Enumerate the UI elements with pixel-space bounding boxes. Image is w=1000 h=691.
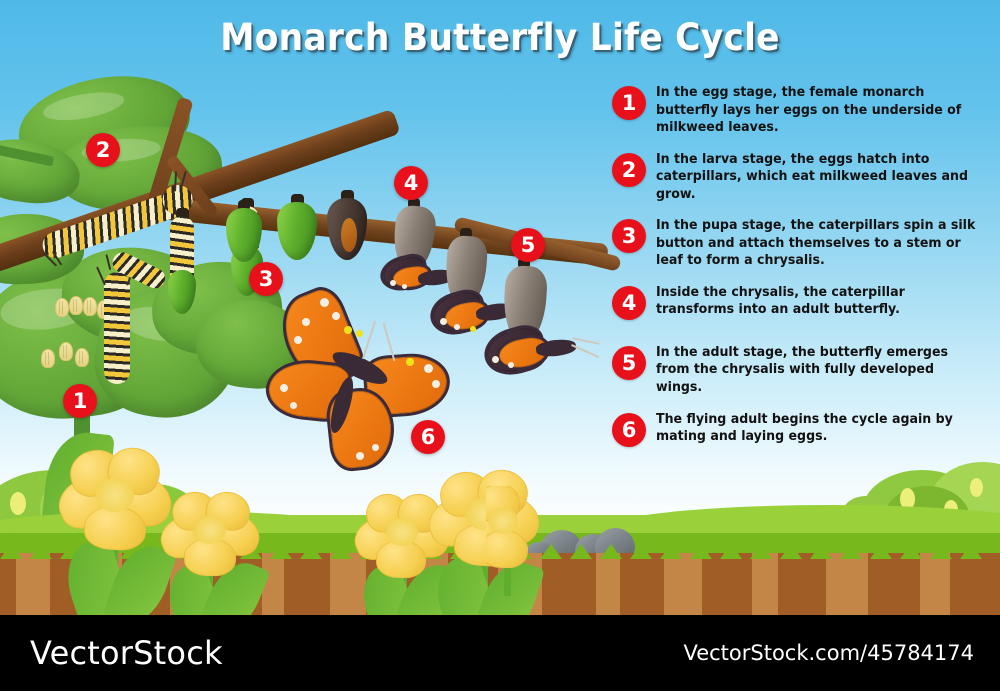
step-text-2: In the larva stage, the eggs hatch into …: [656, 151, 979, 204]
butterfly-adult-spot-2: [332, 312, 340, 320]
butterfly-adult-spot-8: [290, 402, 297, 409]
step-badge-3[interactable]: 3: [612, 219, 646, 253]
flower-1-center: [96, 478, 134, 512]
chrysalis-green-1: [277, 202, 317, 260]
butterfly-emerging-1-dot-2: [402, 284, 407, 289]
flower-2-center: [194, 516, 226, 544]
chrysalis-dark-1-wing-hint: [341, 218, 357, 252]
butterfly-adult-spot-7: [280, 384, 288, 392]
butterfly-adult-spot-5: [424, 364, 433, 373]
butterfly-adult-spot-yellow-1: [344, 326, 352, 334]
step-text-6: The flying adult begins the cycle again …: [656, 411, 979, 446]
bush-right-dot-3: [970, 478, 983, 497]
step-item-4: 4 Inside the chrysalis, the caterpillar …: [612, 284, 994, 330]
butterfly-emerging-3-antenna-b: [571, 344, 599, 358]
egg-6: [59, 342, 73, 361]
step-item-5: 5 In the adult stage, the butterfly emer…: [612, 344, 994, 397]
bush-left-dot-1: [10, 492, 26, 515]
butterfly-adult-spot-1: [320, 298, 329, 307]
butterfly-adult-antenna-left: [362, 321, 376, 360]
step-text-1: In the egg stage, the female monarch but…: [656, 84, 979, 137]
art-badge-5[interactable]: 5: [511, 228, 545, 262]
flower-5: [486, 486, 546, 596]
butterfly-adult-spot-4: [294, 336, 302, 344]
egg-5: [41, 349, 55, 368]
vectorstock-url: VectorStock.com/45784174: [683, 641, 974, 665]
caterpillar-4-body: [104, 272, 130, 384]
egg-3: [83, 297, 97, 316]
butterfly-adult-spot-10: [372, 444, 379, 451]
butterfly-adult-spot-yellow-2: [356, 330, 363, 337]
butterfly-emerging-3-dot-1: [492, 356, 499, 363]
butterfly-emerging-3-antenna-a: [572, 337, 600, 345]
butterfly-adult-spot-yellow-3: [406, 358, 414, 366]
art-badge-6[interactable]: 6: [411, 420, 445, 454]
butterfly-emerging-3-dot-2: [508, 362, 514, 368]
life-cycle-steps-list: 1 In the egg stage, the female monarch b…: [612, 84, 994, 471]
art-badge-4[interactable]: 4: [394, 166, 428, 200]
step-item-3: 3 In the pupa stage, the caterpillars sp…: [612, 217, 994, 270]
step-badge-5[interactable]: 5: [612, 346, 646, 380]
step-badge-6[interactable]: 6: [612, 413, 646, 447]
art-badge-2[interactable]: 2: [86, 133, 120, 167]
watermark-footer: VectorStock VectorStock.com/45784174: [0, 615, 1000, 691]
flower-2: [158, 494, 268, 604]
step-badge-1[interactable]: 1: [612, 86, 646, 120]
poster-root: 1 2 3 4 5 6 Monarch Butterfly Life Cycle…: [0, 0, 1000, 691]
butterfly-adult-spot-3: [302, 318, 310, 326]
butterfly-adult-spot-9: [356, 452, 364, 460]
flower-5-petal-3: [486, 529, 529, 569]
art-badge-1[interactable]: 1: [63, 384, 97, 418]
step-item-1: 1 In the egg stage, the female monarch b…: [612, 84, 994, 137]
caterpillar-2-hanging: [164, 208, 204, 312]
step-badge-4[interactable]: 4: [612, 286, 646, 320]
art-badge-3[interactable]: 3: [249, 262, 283, 296]
butterfly-emerging-2-dot-yellow: [470, 326, 476, 332]
flower-3-center: [386, 518, 418, 546]
egg-2: [69, 296, 83, 315]
step-text-5: In the adult stage, the butterfly emerge…: [656, 344, 979, 397]
page-title: Monarch Butterfly Life Cycle: [35, 16, 965, 59]
step-text-4: Inside the chrysalis, the caterpillar tr…: [656, 284, 979, 319]
vectorstock-brand: VectorStock: [30, 634, 223, 672]
flower-5-center: [488, 508, 518, 534]
egg-7: [75, 348, 89, 367]
egg-1: [55, 298, 69, 317]
butterfly-adult-spot-6: [432, 380, 440, 388]
step-item-6: 6 The flying adult begins the cycle agai…: [612, 411, 994, 457]
step-badge-2[interactable]: 2: [612, 153, 646, 187]
step-text-3: In the pupa stage, the caterpillars spin…: [656, 217, 979, 270]
butterfly-emerging-1-dot-1: [390, 280, 396, 286]
step-item-2: 2 In the larva stage, the eggs hatch int…: [612, 151, 994, 204]
